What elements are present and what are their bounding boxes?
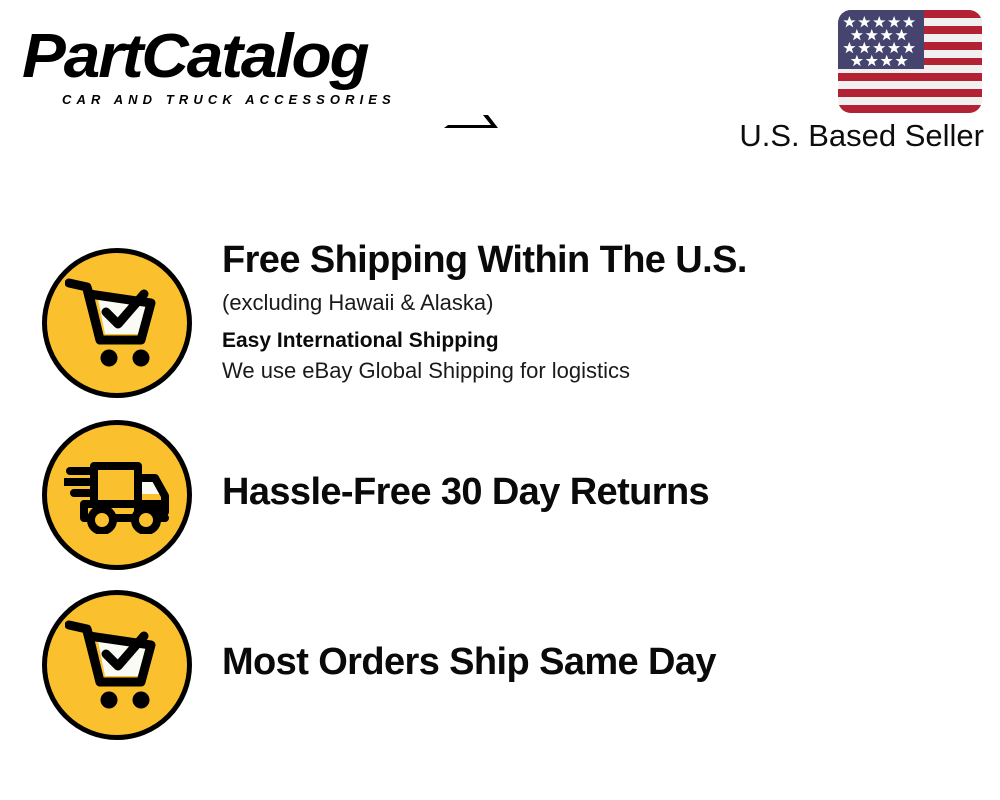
feature-text-same-day: Most Orders Ship Same Day — [222, 640, 982, 684]
feature-sub-detail: We use eBay Global Shipping for logistic… — [222, 356, 982, 386]
feature-title: Hassle-Free 30 Day Returns — [222, 470, 982, 514]
delivery-truck-icon — [42, 420, 192, 570]
feature-text-returns: Hassle-Free 30 Day Returns — [222, 470, 982, 514]
feature-subtitle: (excluding Hawaii & Alaska) — [222, 288, 982, 318]
truck-glyph — [64, 456, 170, 534]
shopping-cart-check-icon — [42, 248, 192, 398]
cart-check-glyph — [65, 619, 169, 711]
feature-text-free-shipping: Free Shipping Within The U.S. (excluding… — [222, 238, 982, 386]
feature-title: Free Shipping Within The U.S. — [222, 238, 982, 282]
feature-list: Free Shipping Within The U.S. (excluding… — [0, 0, 1000, 800]
cart-check-glyph — [65, 277, 169, 369]
feature-sub-heading: Easy International Shipping — [222, 326, 982, 356]
shopping-cart-check-icon — [42, 590, 192, 740]
feature-title: Most Orders Ship Same Day — [222, 640, 982, 684]
banner-page: PartCatalog CAR AND TRUCK ACCESSORIES — [0, 0, 1000, 800]
